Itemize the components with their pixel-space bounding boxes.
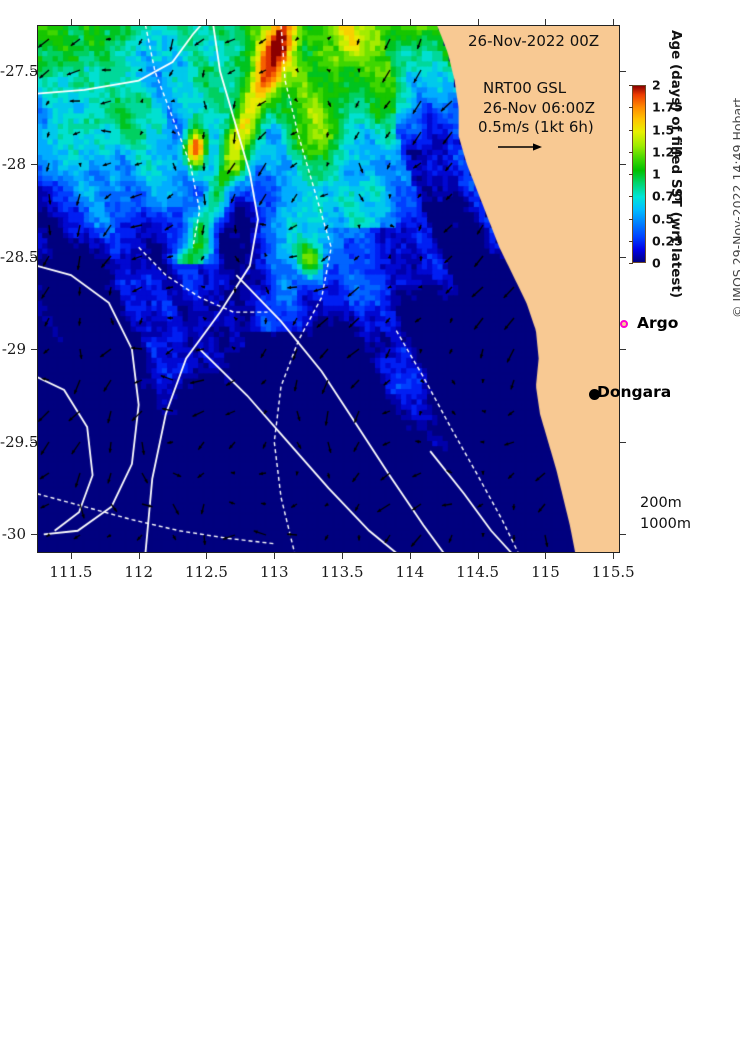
y-tick-right: [620, 164, 626, 165]
y-tick-label: -29: [0, 340, 26, 358]
x-tick-top: [274, 19, 275, 25]
bathymetry-200m-label: 200m: [640, 495, 682, 511]
colorbar-tick: [629, 107, 633, 108]
colorbar-tick: [629, 152, 633, 153]
figure-root: 26-Nov-2022 00Z NRT00 GSL 26-Nov 06:00Z …: [0, 0, 740, 592]
colorbar-tick: [629, 174, 633, 175]
model-time-label: 26-Nov 06:00Z: [483, 99, 595, 117]
bathymetry-200m-line-icon: [640, 1016, 694, 1018]
x-tick: [274, 553, 275, 559]
vector-scale-arrow-icon: [497, 140, 543, 154]
colorbar-tick: [629, 130, 633, 131]
x-tick-label: 115.5: [592, 563, 635, 581]
y-tick: [31, 349, 37, 350]
x-tick-label: 111.5: [49, 563, 92, 581]
y-tick-label: -30: [0, 525, 26, 543]
x-tick-label: 113.5: [321, 563, 364, 581]
vector-scale-label: 0.5m/s (1kt 6h): [478, 118, 594, 136]
x-tick-label: 115: [531, 563, 560, 581]
colorbar-tick: [629, 196, 633, 197]
bathymetry-legend: 200m 1000m: [640, 492, 691, 534]
x-tick-top: [545, 19, 546, 25]
x-tick-top: [342, 19, 343, 25]
dongara-label: Dongara: [597, 383, 671, 401]
colorbar-tick-label: 1: [652, 167, 661, 182]
y-tick-right: [620, 71, 626, 72]
y-tick-right: [620, 442, 626, 443]
y-tick-right: [620, 534, 626, 535]
x-tick-top: [139, 19, 140, 25]
x-tick-label: 114: [396, 563, 425, 581]
x-tick-top: [478, 19, 479, 25]
x-tick-label: 112: [124, 563, 153, 581]
credit-label: © IMOS 29-Nov-2022 14:49 Hobart: [730, 98, 740, 318]
x-tick: [613, 553, 614, 559]
x-tick-label: 112.5: [185, 563, 228, 581]
colorbar-tick-label: 0: [652, 256, 661, 271]
x-tick: [478, 553, 479, 559]
bathymetry-legend-row-1000m: 1000m: [640, 513, 691, 534]
y-tick-right: [620, 349, 626, 350]
y-tick: [31, 164, 37, 165]
y-tick-label: -29.5: [0, 433, 26, 451]
y-tick-right: [620, 257, 626, 258]
x-tick-label: 113: [260, 563, 289, 581]
x-tick: [71, 553, 72, 559]
x-tick: [342, 553, 343, 559]
colorbar-tick-label: 2: [652, 78, 661, 93]
x-tick: [545, 553, 546, 559]
bathymetry-1000m-label: 1000m: [640, 516, 691, 532]
model-name-label: NRT00 GSL: [483, 79, 566, 97]
x-tick-top: [71, 19, 72, 25]
y-tick-label: -28: [0, 155, 26, 173]
x-tick-top: [206, 19, 207, 25]
date-stamp-label: 26-Nov-2022 00Z: [468, 32, 599, 50]
x-tick-label: 114.5: [456, 563, 499, 581]
y-tick-label: -28.5: [0, 248, 26, 266]
x-tick: [206, 553, 207, 559]
x-tick-top: [410, 19, 411, 25]
argo-label: Argo: [637, 314, 678, 332]
colorbar-gradient: [632, 85, 646, 263]
x-tick-top: [613, 19, 614, 25]
y-tick: [31, 534, 37, 535]
colorbar-tick: [629, 241, 633, 242]
colorbar-tick: [629, 263, 633, 264]
colorbar-tick: [629, 219, 633, 220]
x-tick: [139, 553, 140, 559]
y-tick-label: -27.5: [0, 62, 26, 80]
argo-marker-icon: [620, 320, 628, 328]
colorbar-title: Age (days) of filled SST (wrt latest): [668, 30, 684, 298]
bathymetry-legend-row-200m: 200m: [640, 492, 691, 513]
colorbar-tick: [629, 85, 633, 86]
x-tick: [410, 553, 411, 559]
colorbar: 00.250.50.7511.251.51.752: [632, 85, 646, 263]
